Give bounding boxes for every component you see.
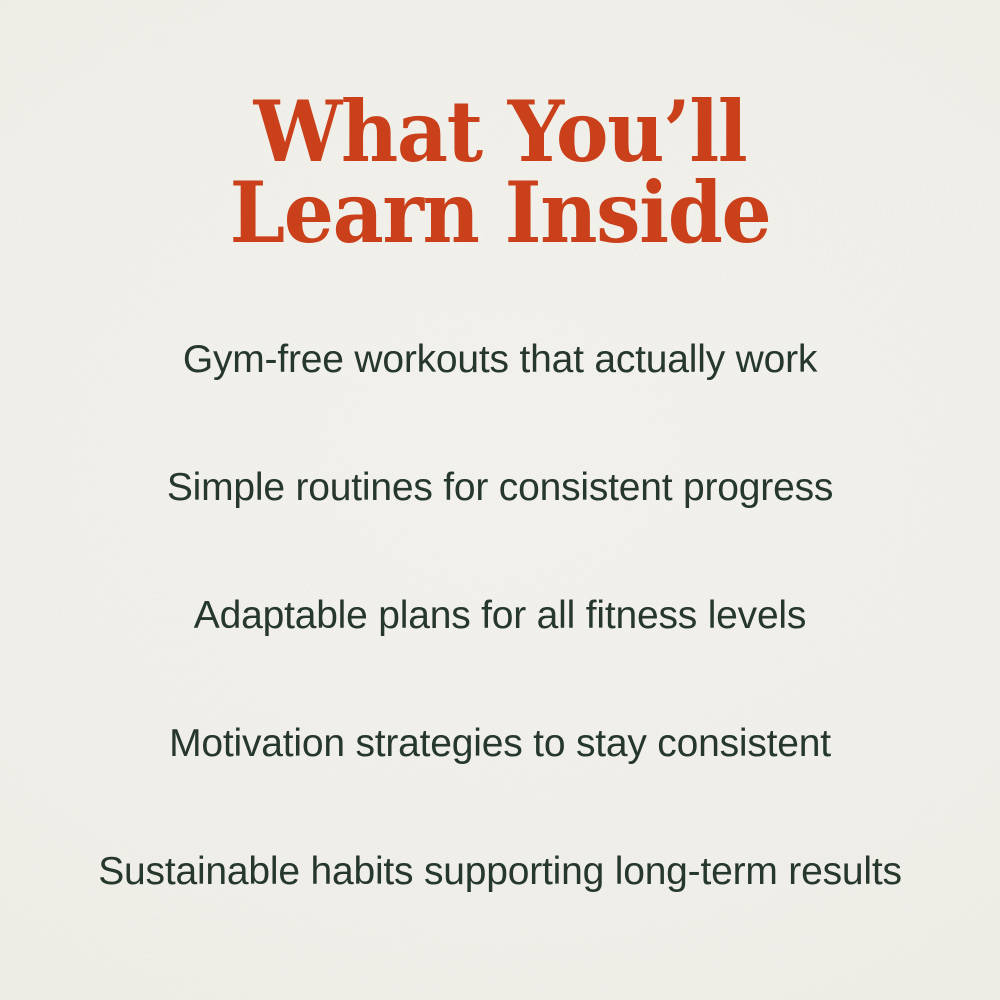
benefit-item-4: Motivation strategies to stay consistent xyxy=(0,680,1000,808)
benefit-item-1: Gym-free workouts that actually work xyxy=(0,296,1000,424)
benefit-item-5: Sustainable habits supporting long-term … xyxy=(0,808,1000,936)
benefit-list: Gym-free workouts that actually work Sim… xyxy=(0,296,1000,936)
benefit-item-3: Adaptable plans for all fitness levels xyxy=(0,552,1000,680)
poster-canvas: What You’ll Learn Inside Gym-free workou… xyxy=(0,0,1000,1000)
page-title-line-1: What You’ll xyxy=(86,92,913,173)
page-title: What You’ll Learn Inside xyxy=(30,92,970,253)
page-title-line-2: Learn Inside xyxy=(86,173,913,254)
benefit-item-2: Simple routines for consistent progress xyxy=(0,424,1000,552)
